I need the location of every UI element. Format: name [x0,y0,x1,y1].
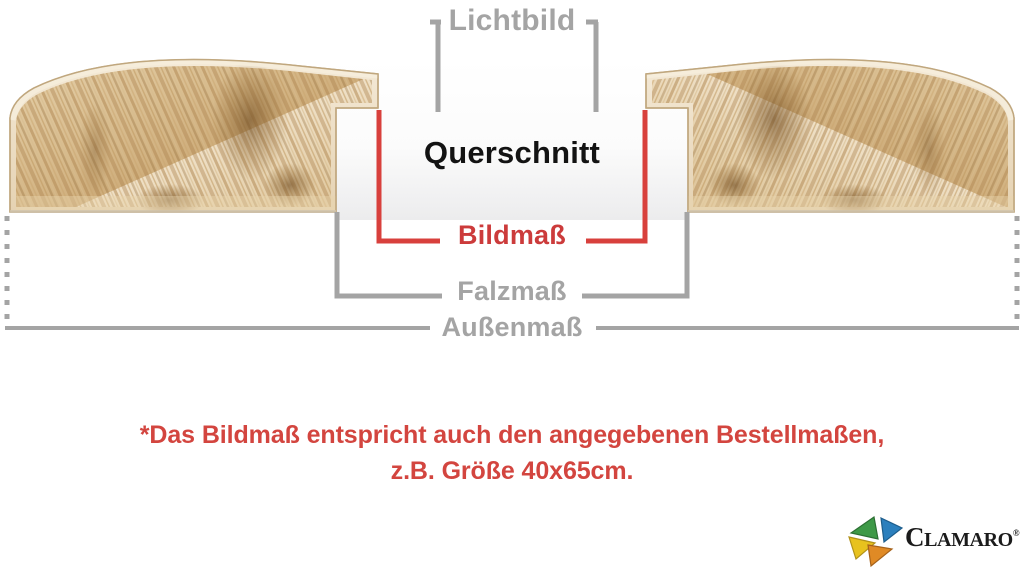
diagram-artwork [0,0,1024,360]
frame-cross-section-diagram: Lichtbild Querschnitt Bildmaß Falzmaß Au… [0,0,1024,360]
caption-line-1: *Das Bildmaß entspricht auch den angegeb… [140,421,884,449]
logo-wordmark-initial: C [905,522,924,552]
logo-triangle-blue [881,518,902,542]
label-querschnitt: Querschnitt [0,137,1024,168]
caption-note: *Das Bildmaß entspricht auch den angegeb… [0,418,1024,489]
label-falzmass: Falzmaß [0,278,1024,305]
label-aussenmass: Außenmaß [0,314,1024,341]
label-bildmass: Bildmaß [0,222,1024,249]
logo-triangle-green [851,517,878,539]
screenshot-root: Lichtbild Querschnitt Bildmaß Falzmaß Au… [0,0,1024,580]
logo-wordmark-rest: LAMARO [924,529,1013,551]
logo-wordmark: CLAMARO® [905,522,1019,553]
logo-registered-mark: ® [1013,528,1019,538]
caption-line-2: z.B. Größe 40x65cm. [0,454,1024,490]
clamaro-logo: CLAMARO® [845,509,1015,571]
logo-triangle-orange [868,545,892,566]
label-lichtbild: Lichtbild [0,6,1024,36]
